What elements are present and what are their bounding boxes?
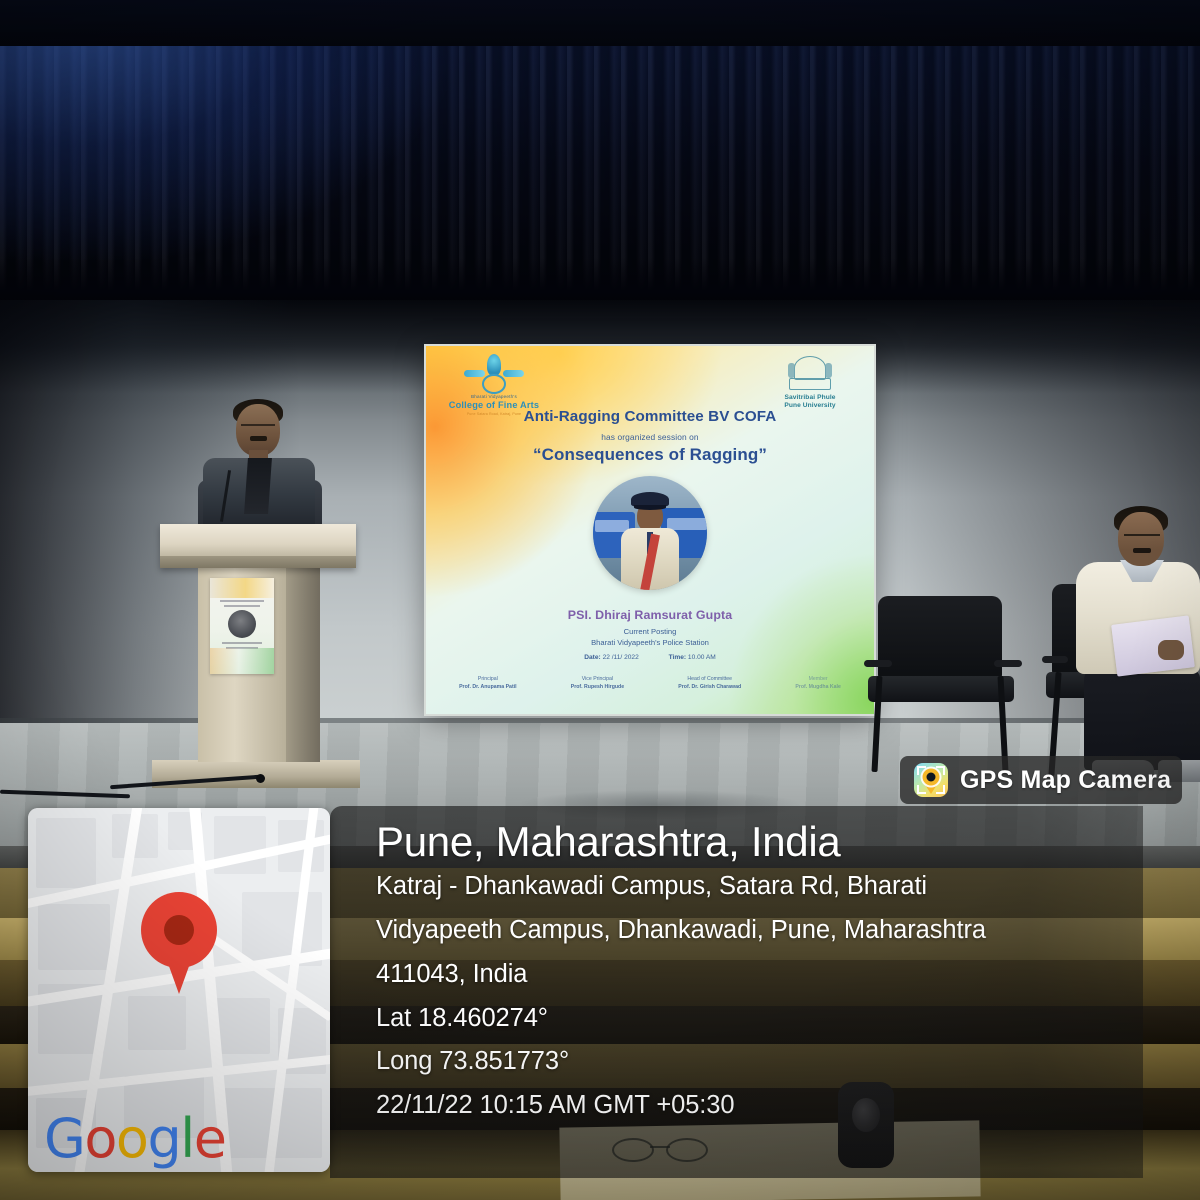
- posting-place: Bharati Vidyapeeth's Police Station: [426, 637, 874, 648]
- slide-datetime: Date: 22 /11/ 2022 Time: 10.00 AM: [426, 654, 874, 661]
- attendee-hand: [1158, 640, 1184, 660]
- signatory-name: Prof. Rupesh Hirgude: [571, 684, 624, 692]
- signatory: Member Prof. Mugdha Kale: [795, 676, 841, 692]
- speaker-photo: [593, 476, 707, 590]
- speaker-jacket-lapel: [244, 458, 272, 514]
- google-letter: o: [84, 1107, 116, 1170]
- cable-connector: [256, 774, 265, 783]
- google-letter: G: [44, 1107, 84, 1170]
- attendee-glasses: [1124, 534, 1160, 544]
- location-latitude: Lat 18.460274°: [376, 997, 1116, 1041]
- posting-label: Current Posting: [426, 626, 874, 637]
- time-value: 10.00 AM: [688, 654, 716, 661]
- podium-poster: [210, 578, 274, 674]
- college-emblem-icon: [464, 354, 524, 392]
- signatory-name: Prof. Dr. Girish Charawad: [678, 684, 741, 692]
- signatory-name: Prof. Mugdha Kale: [795, 684, 841, 692]
- slide-subtitle: has organized session on: [426, 432, 874, 442]
- time-label: Time:: [669, 654, 686, 661]
- signatory-role: Member: [795, 676, 841, 684]
- location-address-line-1: Katraj - Dhankawadi Campus, Satara Rd, B…: [376, 865, 1116, 909]
- university-logo: Savitribai Phule Pune University: [758, 354, 862, 410]
- slide-speaker-name: PSI. Dhiraj Ramsurat Gupta: [426, 608, 874, 622]
- location-overlay-text: Pune, Maharashtra, India Katraj - Dhanka…: [376, 818, 1116, 1128]
- signatory: Head of Committee Prof. Dr. Girish Chara…: [678, 676, 741, 692]
- attendee-legs: [1084, 666, 1200, 770]
- google-letter: g: [147, 1107, 180, 1170]
- signatory: Vice Principal Prof. Rupesh Hirgude: [571, 676, 624, 692]
- google-letter: e: [194, 1107, 226, 1170]
- gps-map-camera-watermark: GPS Map Camera: [900, 756, 1182, 804]
- photo-canvas: Bharati Vidyapeeth's College of Fine Art…: [0, 0, 1200, 1200]
- slide-posting-block: Current Posting Bharati Vidyapeeth's Pol…: [426, 626, 874, 648]
- location-longitude: Long 73.851773°: [376, 1040, 1116, 1084]
- slide-signatories: Principal Prof. Dr. Anupama Patil Vice P…: [432, 676, 868, 692]
- location-address-line-2: Vidyapeeth Campus, Dhankawadi, Pune, Mah…: [376, 909, 1116, 953]
- google-letter: l: [180, 1107, 194, 1170]
- podium-shadow: [286, 566, 320, 762]
- gps-map-camera-label: GPS Map Camera: [960, 766, 1171, 795]
- map-thumbnail[interactable]: Google: [28, 808, 330, 1172]
- speaker-moustache: [250, 436, 267, 441]
- map-pin-icon: [141, 892, 217, 996]
- google-letter: o: [116, 1107, 148, 1170]
- signatory-role: Head of Committee: [678, 676, 741, 684]
- google-logo: Google: [44, 1112, 225, 1166]
- presentation-slide: Bharati Vidyapeeth's College of Fine Art…: [426, 346, 874, 714]
- signatory-role: Principal: [459, 676, 516, 684]
- university-name-line1: Savitribai Phule: [758, 394, 862, 402]
- university-crest-icon: [787, 354, 833, 392]
- stage-curtain: [0, 0, 1200, 300]
- date-value: 22 /11/ 2022: [603, 654, 639, 661]
- date-label: Date:: [584, 654, 601, 661]
- college-logo: Bharati Vidyapeeth's College of Fine Art…: [440, 354, 548, 416]
- signatory-name: Prof. Dr. Anupama Patil: [459, 684, 516, 692]
- curtain-valance: [0, 0, 1200, 46]
- signatory: Principal Prof. Dr. Anupama Patil: [459, 676, 516, 692]
- signatory-role: Vice Principal: [571, 676, 624, 684]
- slide-title: Anti-Ragging Committee BV COFA: [426, 408, 874, 425]
- gps-map-camera-icon: [914, 763, 948, 797]
- slide-topic: “Consequences of Ragging”: [426, 445, 874, 465]
- podium-top-edge: [160, 556, 356, 568]
- attendee-moustache: [1133, 548, 1151, 553]
- location-timestamp: 22/11/22 10:15 AM GMT +05:30: [376, 1084, 1116, 1128]
- speaker-glasses: [241, 424, 275, 433]
- location-address-line-3: 411043, India: [376, 953, 1116, 997]
- location-city: Pune, Maharashtra, India: [376, 818, 1116, 865]
